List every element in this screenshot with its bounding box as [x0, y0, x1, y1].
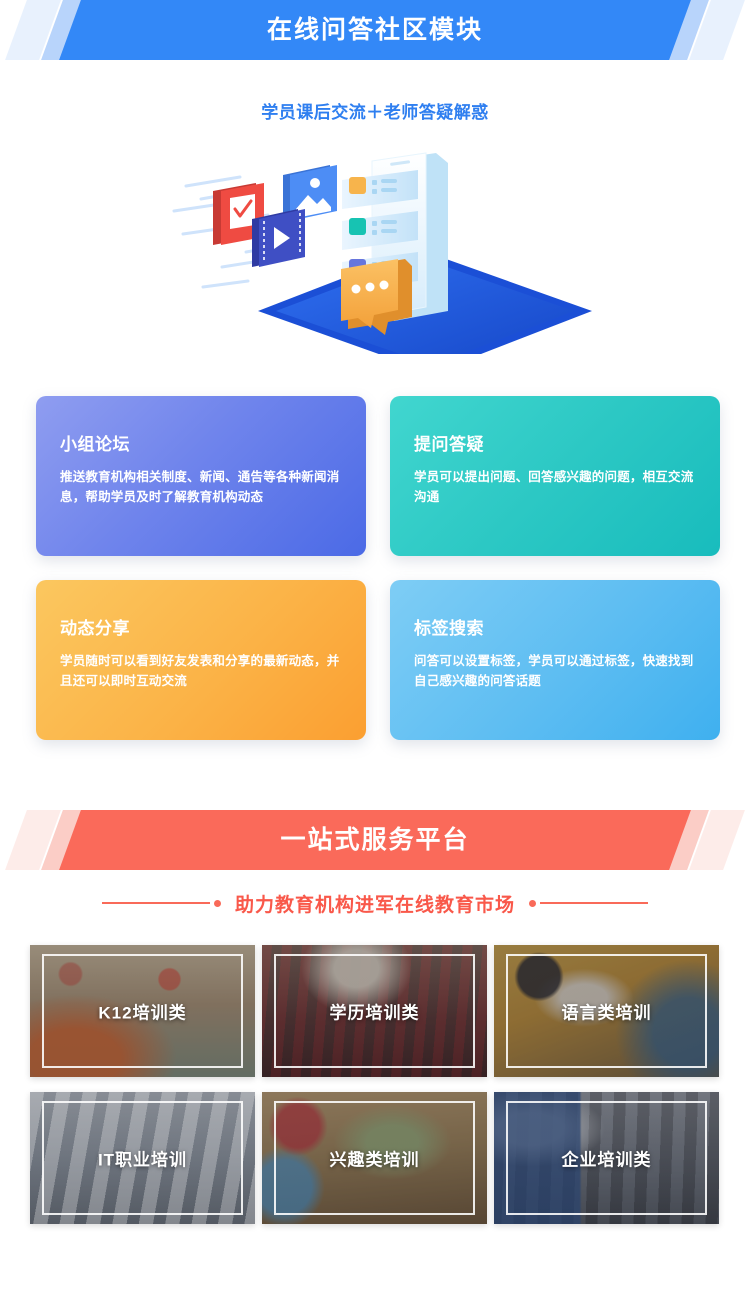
section2-banner: FEATURES 一站式服务平台 — [0, 810, 750, 870]
category-tile-xueli[interactable]: 学历培训类 — [262, 945, 487, 1077]
section1-banner: FEATURES 在线问答社区模块 — [0, 0, 750, 60]
qa-community-illustration — [0, 139, 750, 354]
decor-line-right — [529, 900, 648, 907]
feature-card-group-forum[interactable]: 小组论坛 推送教育机构相关制度、新闻、通告等各种新闻消息，帮助学员及时了解教育机… — [36, 396, 366, 556]
section1-banner-title: 在线问答社区模块 — [0, 0, 750, 60]
tile-caption: IT职业培训 — [30, 1146, 255, 1171]
section2-subheading-row: 助力教育机构进军在线教育市场 — [0, 888, 750, 918]
category-tile-yuyan[interactable]: 语言类培训 — [494, 945, 719, 1077]
decor-dot-right — [529, 900, 536, 907]
category-tile-k12[interactable]: K12培训类 — [30, 945, 255, 1077]
feature-card-desc: 问答可以设置标签，学员可以通过标签，快速找到自己感兴趣的问答话题 — [414, 651, 696, 691]
category-tile-xingqu[interactable]: 兴趣类培训 — [262, 1092, 487, 1224]
feature-card-tag-search[interactable]: 标签搜索 问答可以设置标签，学员可以通过标签，快速找到自己感兴趣的问答话题 — [390, 580, 720, 740]
feature-card-title: 小组论坛 — [60, 430, 342, 455]
feature-card-desc: 学员可以提出问题、回答感兴趣的问题，相互交流沟通 — [414, 467, 696, 507]
feature-card-title: 提问答疑 — [414, 430, 696, 455]
feature-card-desc: 学员随时可以看到好友发表和分享的最新动态，并且还可以即时互动交流 — [60, 651, 342, 691]
tile-caption: K12培训类 — [30, 999, 255, 1024]
decor-line-left — [102, 900, 221, 907]
section2-subheading: 助力教育机构进军在线教育市场 — [235, 890, 515, 917]
decor-dot-left — [214, 900, 221, 907]
category-tile-qiye[interactable]: 企业培训类 — [494, 1092, 719, 1224]
row-marker-orange — [349, 177, 366, 194]
feature-card-title: 动态分享 — [60, 614, 342, 639]
feature-card-dynamic-sharing[interactable]: 动态分享 学员随时可以看到好友发表和分享的最新动态，并且还可以即时互动交流 — [36, 580, 366, 740]
video-card — [252, 209, 305, 267]
feature-card-grid: 小组论坛 推送教育机构相关制度、新闻、通告等各种新闻消息，帮助学员及时了解教育机… — [36, 396, 720, 740]
section1-subheading: 学员课后交流＋老师答疑解惑 — [0, 98, 750, 123]
landing-page: FEATURES 在线问答社区模块 学员课后交流＋老师答疑解惑 — [0, 0, 750, 1316]
section2-banner-title: 一站式服务平台 — [0, 810, 750, 870]
tile-caption: 兴趣类培训 — [262, 1146, 487, 1171]
category-tile-it[interactable]: IT职业培训 — [30, 1092, 255, 1224]
row-marker-teal — [349, 218, 366, 235]
category-tile-grid: K12培训类 学历培训类 语言类培训 IT职业培训 兴趣类培训 — [30, 945, 720, 1224]
tile-caption: 学历培训类 — [262, 999, 487, 1024]
feature-card-title: 标签搜索 — [414, 614, 696, 639]
feature-card-desc: 推送教育机构相关制度、新闻、通告等各种新闻消息，帮助学员及时了解教育机构动态 — [60, 467, 342, 507]
tile-caption: 企业培训类 — [494, 1146, 719, 1171]
feature-card-qa[interactable]: 提问答疑 学员可以提出问题、回答感兴趣的问题，相互交流沟通 — [390, 396, 720, 556]
tile-caption: 语言类培训 — [494, 999, 719, 1024]
